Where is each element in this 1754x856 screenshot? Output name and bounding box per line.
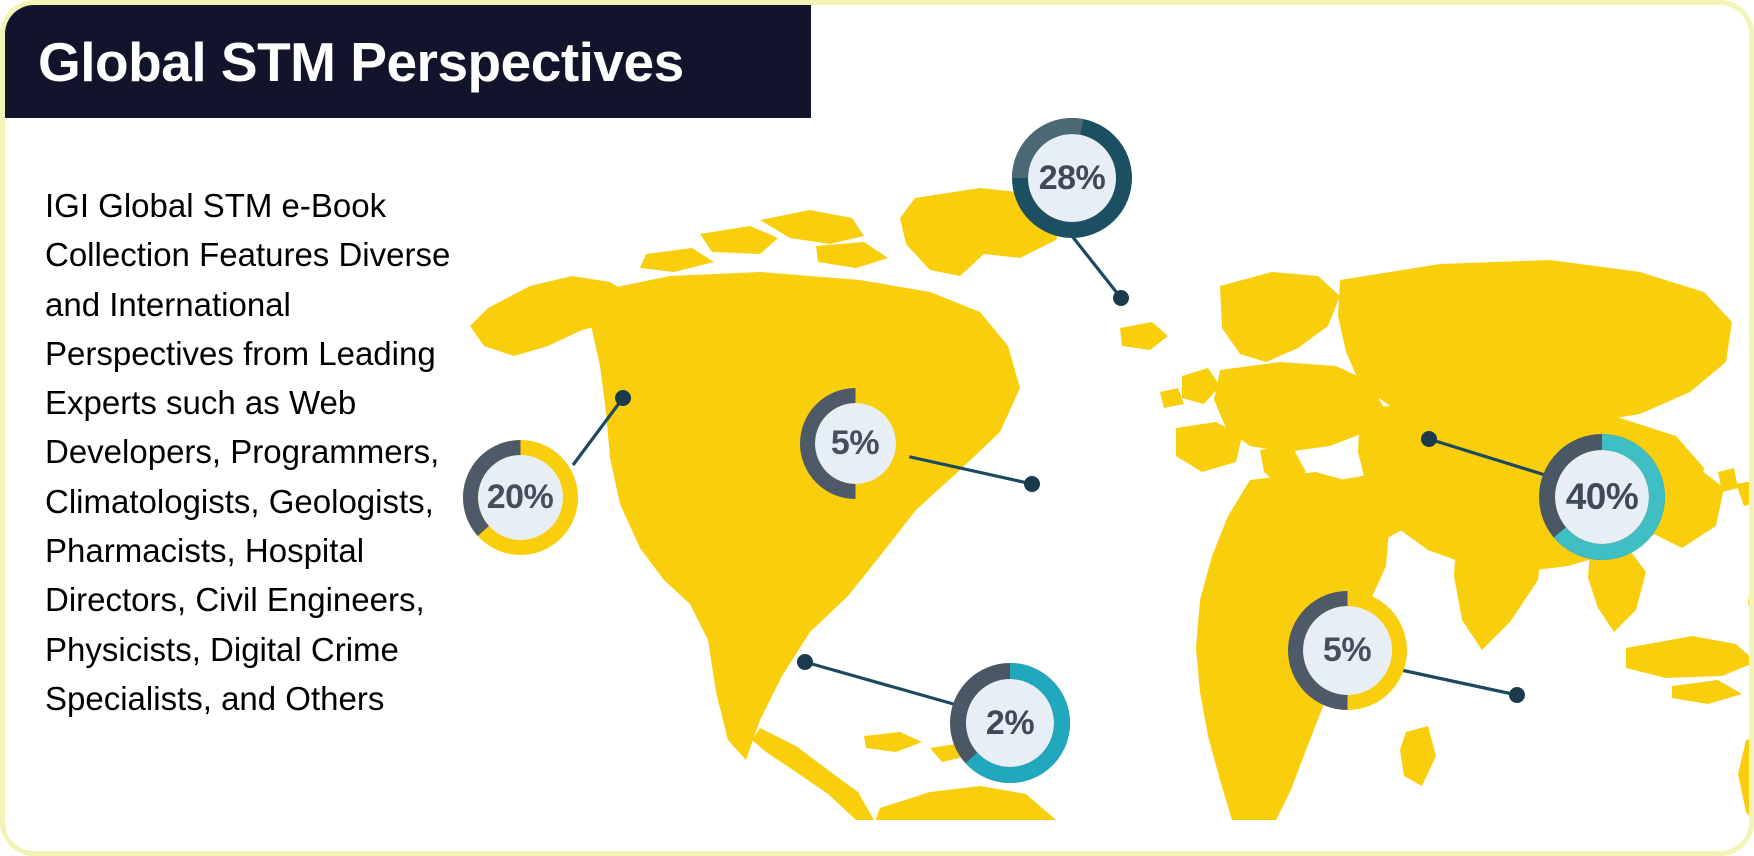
description-paragraph: IGI Global STM e-Book Collection Feature… [45,181,485,723]
donut-inner-disc [478,455,563,540]
donut-marker-asia[interactable]: 40% [1536,431,1668,563]
donut-inner-disc [1555,450,1649,544]
infographic-card: Global STM Perspectives IGI Global STM e… [0,0,1754,856]
donut-marker-south-america[interactable]: 2% [947,660,1073,786]
donut-marker-europe[interactable]: 28% [1009,115,1135,241]
donut-inner-disc [1028,134,1116,222]
donut-inner-disc [815,403,896,484]
donut-inner-disc [1303,606,1392,695]
donut-inner-disc [966,679,1054,767]
page-title: Global STM Perspectives [5,30,684,94]
header-bar: Global STM Perspectives [5,5,811,118]
donut-marker-oceania[interactable]: 5% [1285,588,1410,713]
donut-marker-africa[interactable]: 5% [797,385,914,502]
